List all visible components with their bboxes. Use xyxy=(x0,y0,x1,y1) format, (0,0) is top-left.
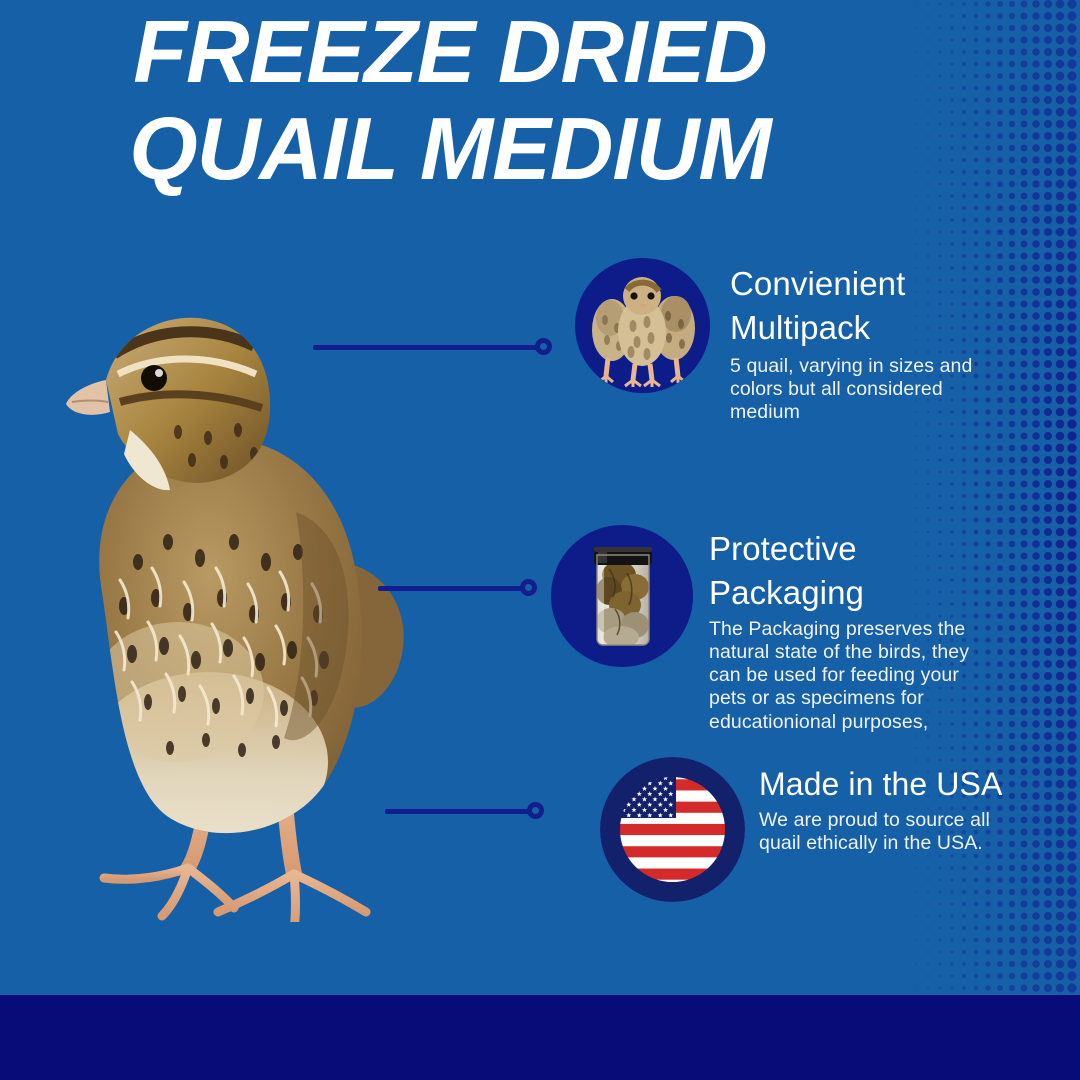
feature-made-in-usa: Made in the USA We are proud to source a… xyxy=(600,757,1034,902)
usa-flag-icon xyxy=(600,757,745,902)
feature-heading: Made in the USA xyxy=(759,763,1034,806)
infographic-canvas: FREEZE DRIED QUAIL MEDIUM xyxy=(0,0,1080,1080)
connector-line-2 xyxy=(378,578,548,598)
connector-line-1 xyxy=(313,337,563,357)
title-line-1: FREEZE DRIED xyxy=(0,8,900,95)
page-title: FREEZE DRIED QUAIL MEDIUM xyxy=(0,8,900,192)
quail-beak xyxy=(66,380,110,415)
quail-eye xyxy=(141,365,167,391)
feature-protective-packaging: Protective Packaging The Packaging prese… xyxy=(551,525,981,734)
feature-convenient-multipack: Convienient Multipack 5 quail, varying i… xyxy=(575,258,982,424)
feature-body: We are proud to source all quail ethical… xyxy=(759,809,1034,855)
title-line-2: QUAIL MEDIUM xyxy=(0,105,900,192)
quail-jar-packaging-photo xyxy=(551,525,693,667)
connector-line-3 xyxy=(385,801,555,821)
bottom-accent-bar xyxy=(0,995,1080,1080)
three-quail-chicks-photo xyxy=(575,258,710,393)
feature-body: 5 quail, varying in sizes and colors but… xyxy=(730,355,982,425)
feature-body: The Packaging preserves the natural stat… xyxy=(709,618,981,734)
feature-heading: Convienient Multipack xyxy=(730,262,982,350)
feature-heading: Protective Packaging xyxy=(709,527,981,615)
